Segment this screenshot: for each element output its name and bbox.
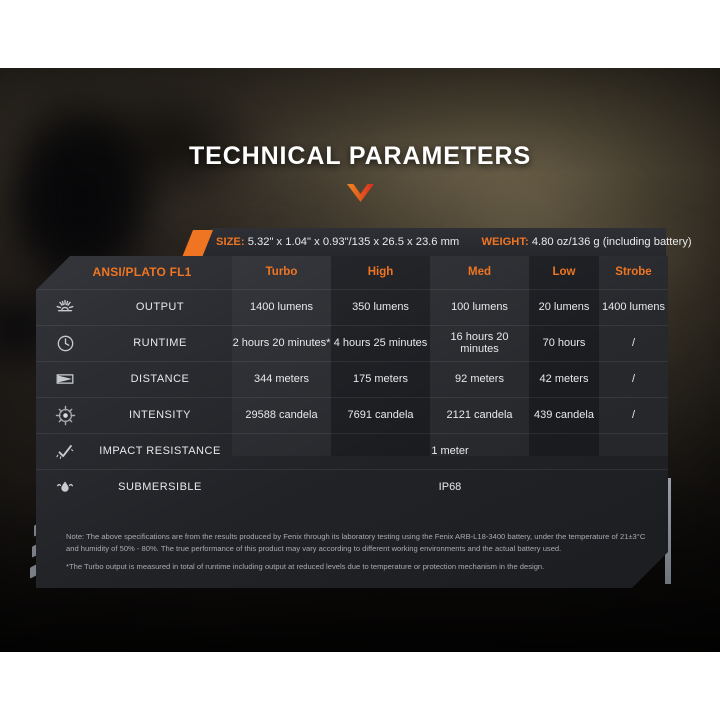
cell-runtime-turbo: 2 hours 20 minutes*: [232, 325, 331, 361]
cell-distance-low: 42 meters: [529, 361, 599, 397]
table-row: IMPACT RESISTANCE 1 meter: [36, 433, 668, 469]
cell-intensity-high: 7691 candela: [331, 397, 430, 433]
table-row: RUNTIME 2 hours 20 minutes* 4 hours 25 m…: [36, 325, 668, 361]
size-label: SIZE:: [216, 236, 245, 248]
chevron-down-icon: [347, 184, 374, 202]
specifications-table: ANSI/PLATO FL1 Turbo High Med Low Strobe: [36, 256, 668, 505]
cell-submersible-value: IP68: [232, 469, 668, 505]
clock-icon: [52, 330, 78, 356]
footnote-line-1: Note: The above specifications are from …: [66, 531, 652, 554]
cell-intensity-strobe: /: [599, 397, 668, 433]
size-value: 5.32" x 1.04" x 0.93"/135 x 26.5 x 23.6 …: [248, 236, 460, 248]
row-label-distance: DISTANCE: [131, 373, 190, 385]
row-label-impact-resistance: IMPACT RESISTANCE: [99, 445, 221, 457]
header-ansi-plato: ANSI/PLATO FL1: [36, 256, 232, 289]
cell-output-high: 350 lumens: [331, 289, 430, 325]
table-row: SUBMERSIBLE IP68: [36, 469, 668, 505]
header-strobe: Strobe: [599, 256, 668, 289]
cell-output-low: 20 lumens: [529, 289, 599, 325]
table-row: INTENSITY 29588 candela 7691 candela 212…: [36, 397, 668, 433]
cell-intensity-med: 2121 candela: [430, 397, 529, 433]
table-row: OUTPUT 1400 lumens 350 lumens 100 lumens…: [36, 289, 668, 325]
cell-runtime-med: 16 hours 20 minutes: [430, 325, 529, 361]
row-label-submersible: SUBMERSIBLE: [118, 481, 202, 493]
cell-output-strobe: 1400 lumens: [599, 289, 668, 325]
page-title: TECHNICAL PARAMETERS: [0, 142, 720, 171]
table-header-row: ANSI/PLATO FL1 Turbo High Med Low Strobe: [36, 256, 668, 289]
row-label-runtime: RUNTIME: [133, 337, 187, 349]
row-label-output: OUTPUT: [136, 301, 184, 313]
cell-distance-high: 175 meters: [331, 361, 430, 397]
beam-cone-icon: [52, 366, 78, 392]
cell-intensity-low: 439 candela: [529, 397, 599, 433]
water-splash-icon: [52, 474, 78, 500]
cell-distance-med: 92 meters: [430, 361, 529, 397]
cell-output-med: 100 lumens: [430, 289, 529, 325]
table-row: DISTANCE 344 meters 175 meters 92 meters…: [36, 361, 668, 397]
cell-distance-turbo: 344 meters: [232, 361, 331, 397]
header-med: Med: [430, 256, 529, 289]
cell-output-turbo: 1400 lumens: [232, 289, 331, 325]
cell-runtime-high: 4 hours 25 minutes: [331, 325, 430, 361]
footnote-line-2: *The Turbo output is measured in total o…: [66, 561, 652, 573]
crosshair-icon: [52, 402, 78, 428]
sunburst-icon: [52, 294, 78, 320]
summary-text: SIZE: 5.32" x 1.04" x 0.93"/135 x 26.5 x…: [216, 236, 676, 248]
header-low: Low: [529, 256, 599, 289]
row-label-intensity: INTENSITY: [129, 409, 191, 421]
impact-drop-icon: [52, 438, 78, 464]
header-turbo: Turbo: [232, 256, 331, 289]
cell-intensity-turbo: 29588 candela: [232, 397, 331, 433]
cell-impact-resistance-value: 1 meter: [232, 433, 668, 469]
header-high: High: [331, 256, 430, 289]
cell-runtime-strobe: /: [599, 325, 668, 361]
weight-label: WEIGHT:: [481, 236, 528, 248]
cell-distance-strobe: /: [599, 361, 668, 397]
footnote: Note: The above specifications are from …: [66, 531, 652, 573]
cell-runtime-low: 70 hours: [529, 325, 599, 361]
weight-value: 4.80 oz/136 g (including battery): [532, 236, 692, 248]
spec-sheet-page: TECHNICAL PARAMETERS SIZE: 5.32" x 1.04"…: [0, 0, 720, 720]
